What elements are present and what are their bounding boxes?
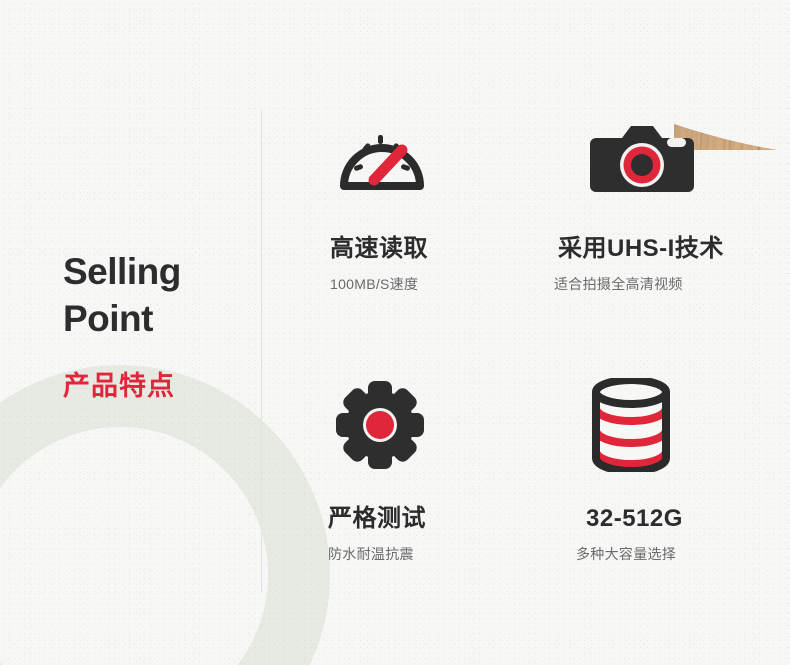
feature-subtitle: 100MB/S速度	[330, 277, 418, 291]
speedometer-icon	[328, 105, 430, 205]
camera-icon	[572, 105, 694, 205]
feature-subtitle: 适合拍摄全高清视频	[554, 277, 683, 291]
feature-item-high-speed-read: 高速读取 100MB/S速度	[300, 105, 530, 375]
feature-title: 32-512G	[586, 507, 683, 531]
feature-title: 采用UHS-I技术	[558, 237, 724, 261]
heading-chinese: 产品特点	[63, 373, 253, 400]
heading-english: Selling Point	[63, 248, 253, 343]
feature-subtitle: 防水耐温抗震	[328, 547, 414, 561]
heading-block: Selling Point 产品特点	[63, 248, 253, 400]
feature-title: 严格测试	[328, 507, 426, 531]
feature-item-strict-testing: 严格测试 防水耐温抗震	[300, 375, 530, 645]
feature-title: 高速读取	[330, 237, 428, 261]
feature-subtitle: 多种大容量选择	[576, 547, 676, 561]
feature-item-uhs-i-technology: 采用UHS-I技术 适合拍摄全高清视频	[530, 105, 770, 375]
feature-grid: 高速读取 100MB/S速度 采用UHS-I技术 适合拍摄全高清视频	[300, 105, 770, 645]
product-selling-point-banner: Selling Point 产品特点 高速读取 100MB/S速度	[0, 0, 790, 665]
gear-icon	[328, 375, 426, 475]
vertical-divider	[261, 110, 262, 592]
feature-item-capacity-range: 32-512G 多种大容量选择	[530, 375, 770, 645]
database-cylinder-icon	[572, 375, 672, 475]
